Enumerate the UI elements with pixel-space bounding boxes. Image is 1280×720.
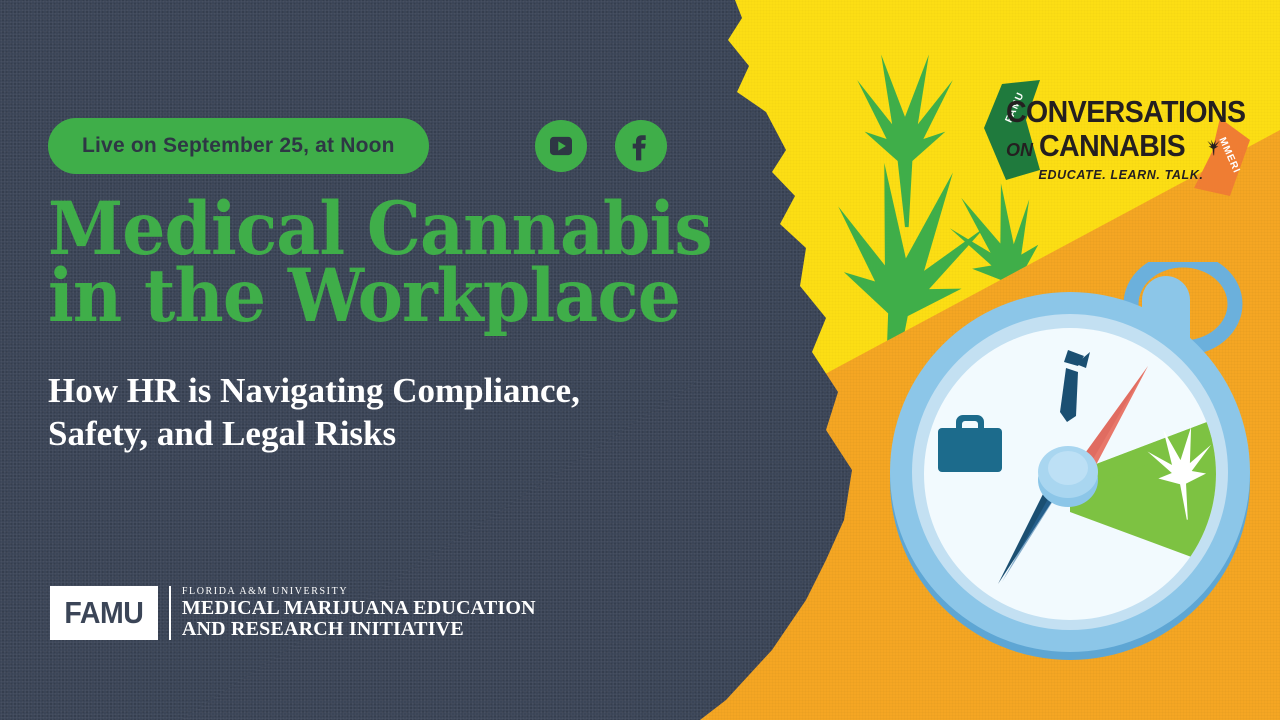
- page-subtitle: How HR is Navigating Compliance, Safety,…: [48, 370, 668, 455]
- famu-initiative-line-2: AND RESEARCH INITIATIVE: [182, 619, 536, 640]
- famu-initiative-line-1: MEDICAL MARIJUANA EDUCATION: [182, 598, 536, 619]
- facebook-icon[interactable]: [615, 120, 667, 172]
- facebook-glyph: [626, 131, 656, 161]
- cannabis-leaf-icon: [1205, 139, 1222, 156]
- logo-wordmark: CONVERSATIONS ON CANNABIS EDUCATE. LEARN…: [1006, 96, 1236, 182]
- logo-line-conversations: CONVERSATIONS: [1006, 96, 1218, 127]
- compass-illustration: [886, 262, 1280, 662]
- youtube-icon[interactable]: [535, 120, 587, 172]
- promo-graphic: Live on September 25, at Noon Medical Ca…: [0, 0, 1280, 720]
- famu-university-line: FLORIDA A&M UNIVERSITY: [182, 586, 536, 597]
- subtitle-line-1: How HR is Navigating Compliance,: [48, 370, 668, 413]
- famu-logo-lockup: FAMU FLORIDA A&M UNIVERSITY MEDICAL MARI…: [50, 586, 536, 640]
- page-title: Medical Cannabis in the Workplace: [48, 196, 792, 330]
- conversations-on-cannabis-logo: FAMU MMERI CONVERSATIONS ON CANNABIS EDU…: [962, 78, 1262, 208]
- needle-hub-cap: [1048, 451, 1088, 485]
- famu-badge-label: FAMU: [64, 595, 143, 631]
- famu-text-block: FLORIDA A&M UNIVERSITY MEDICAL MARIJUANA…: [182, 586, 536, 640]
- subtitle-line-2: Safety, and Legal Risks: [48, 413, 668, 456]
- logo-tagline: EDUCATE. LEARN. TALK.: [1006, 168, 1236, 182]
- live-badge: Live on September 25, at Noon: [48, 118, 429, 174]
- famu-badge: FAMU: [50, 586, 158, 640]
- logo-word-on: ON: [1006, 141, 1033, 159]
- youtube-glyph: [546, 131, 576, 161]
- famu-divider: [169, 586, 171, 640]
- logo-line-cannabis: CANNABIS: [1039, 130, 1185, 161]
- live-badge-label: Live on September 25, at Noon: [82, 134, 395, 158]
- title-line-2: in the Workplace: [48, 263, 792, 330]
